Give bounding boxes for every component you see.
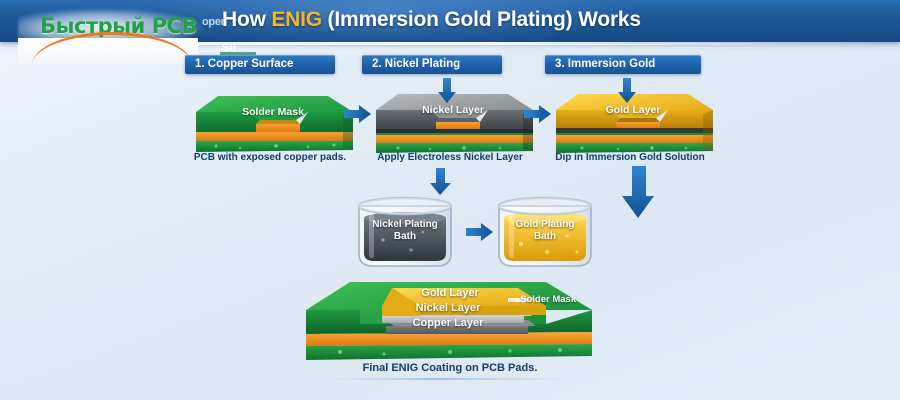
step-caption-2: Apply Electroless Nickel Layer xyxy=(350,152,550,163)
brand-logo[interactable]: Быстрый PCB xyxy=(18,8,203,60)
nickel-plating-bath: Nickel Plating Bath xyxy=(345,192,465,272)
step-badge-1[interactable]: 1. Copper Surface xyxy=(185,55,335,74)
step-badge-2[interactable]: 2. Nickel Plating xyxy=(362,55,502,74)
step-badge-3[interactable]: 3. Immersion Gold xyxy=(545,55,701,74)
title-highlight: ENIG xyxy=(271,8,322,31)
step-caption-3: Dip in Immersion Gold Solution xyxy=(530,152,730,163)
arrow-down-into-nickel-block xyxy=(437,78,457,104)
bottom-sheen xyxy=(330,378,570,380)
final-enig-block: Gold Layer Nickel Layer Copper Layer ← S… xyxy=(300,276,600,362)
gold-plating-bath: Gold Plating Bath xyxy=(485,192,605,272)
final-caption: Final ENIG Coating on PCB Pads. xyxy=(300,362,600,374)
title-prefix: How xyxy=(222,8,271,31)
page-title: How ENIG (Immersion Gold Plating) Works xyxy=(222,8,641,32)
arrow-down-into-gold-block xyxy=(617,78,637,104)
title-suffix: (Immersion Gold Plating) Works xyxy=(322,8,641,31)
arrow-step3-to-gold-bath xyxy=(596,166,656,228)
pcb-block-step1: Solder Mask xyxy=(188,86,358,158)
step-caption-1: PCB with exposed copper pads. xyxy=(170,152,370,163)
infographic-canvas: oper Su How ENIG (Immersion Gold Plating… xyxy=(0,0,900,400)
